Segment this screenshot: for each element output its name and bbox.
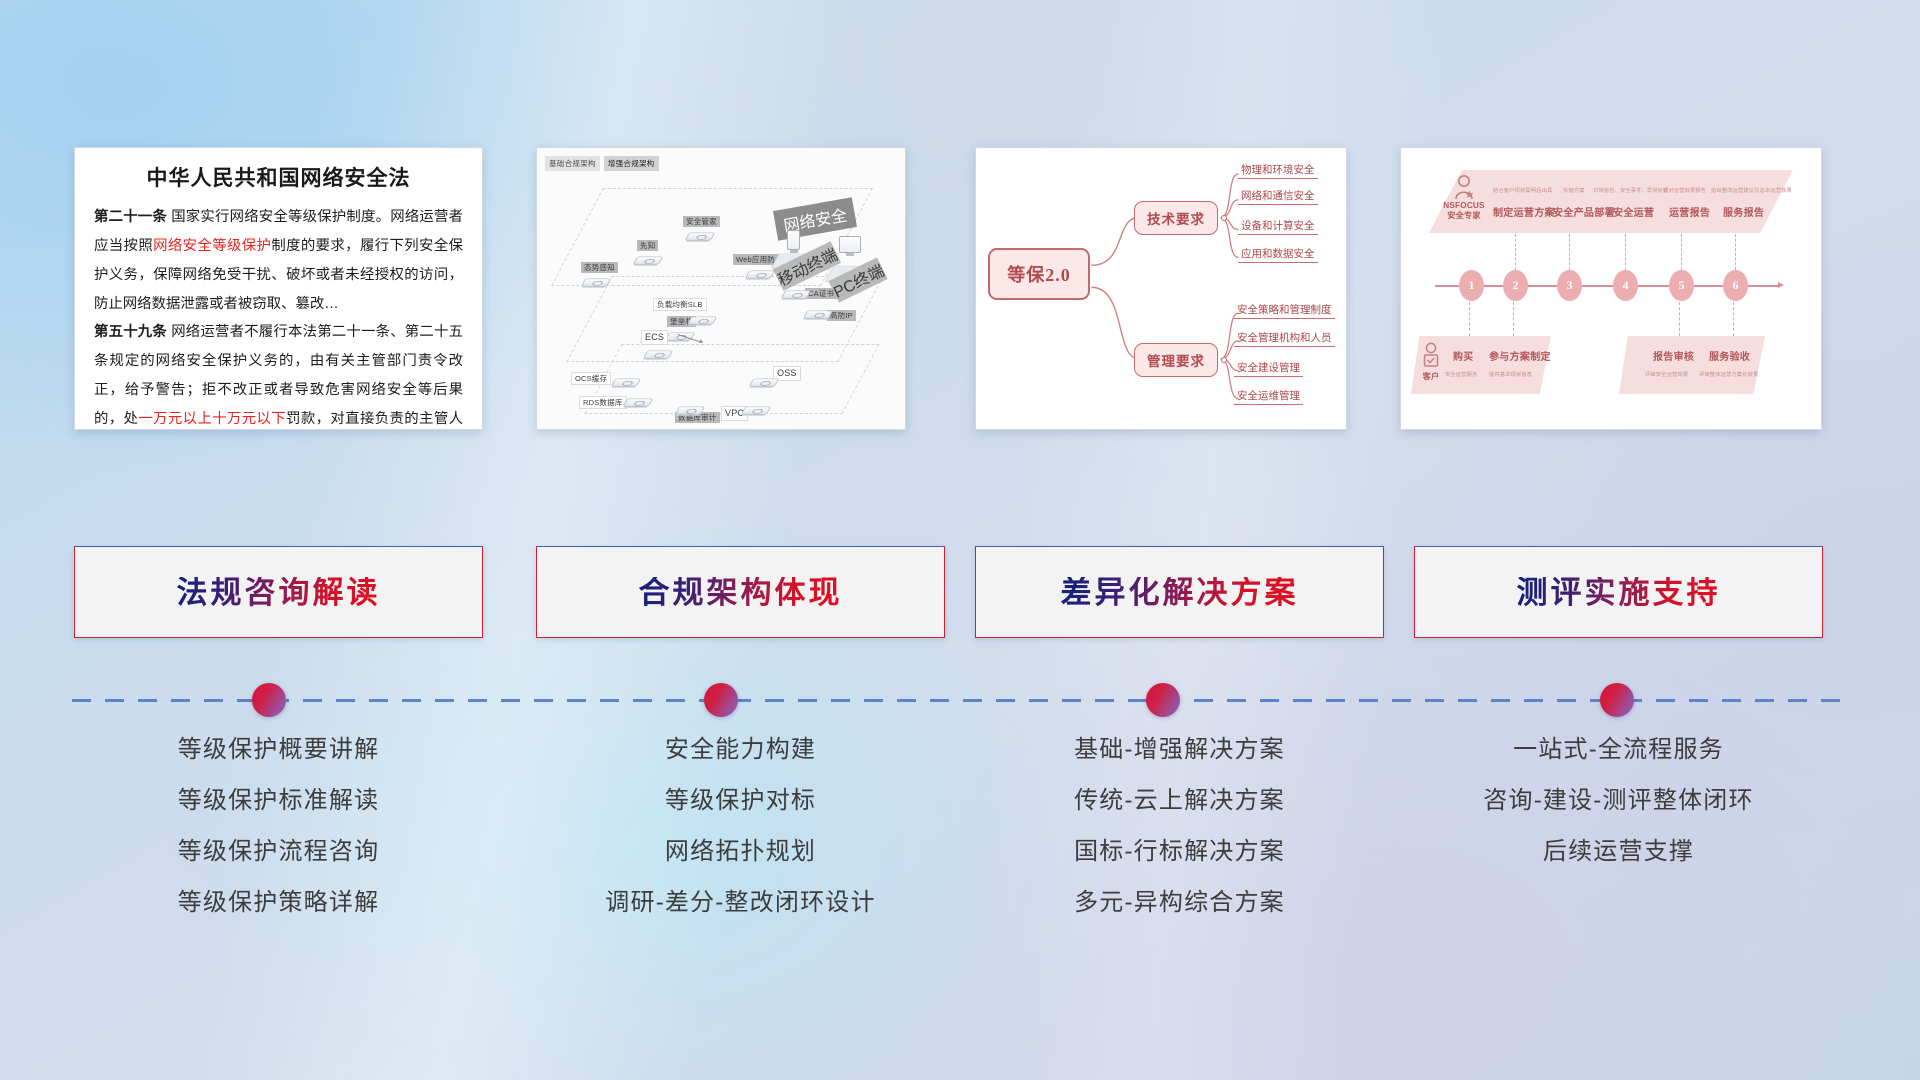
- dashed-timeline: [0, 670, 1920, 730]
- mindmap-leaf: 安全管理机构和人员: [1234, 330, 1335, 347]
- detail-item: 多元-异构综合方案: [975, 891, 1384, 915]
- server-chip-icon: [687, 316, 717, 324]
- server-chip-icon: [745, 270, 775, 278]
- law-paragraph-59: 第五十九条 网络运营者不履行本法第二十一条、第二十五条规定的网络安全保护义务的，…: [94, 318, 463, 430]
- flow-connector: [1735, 234, 1736, 270]
- arch-node-vpc[interactable]: VPC: [743, 404, 769, 417]
- arch-node-rds-database[interactable]: RDS数据库: [625, 396, 651, 409]
- detail-item: 调研-差分-整改闭环设计: [536, 891, 945, 915]
- flow-connector: [1513, 302, 1514, 336]
- detail-item: 基础-增强解决方案: [975, 738, 1384, 762]
- mindmap-leaf: 物理和环境安全: [1238, 162, 1318, 179]
- flow-connector: [1681, 234, 1682, 270]
- illustration-card-row: 中华人民共和国网络安全法 第二十一条 国家实行网络安全等级保护制度。网络运营者应…: [0, 147, 1920, 437]
- arch-node-label: OCS缓存: [571, 372, 611, 385]
- arch-node-label: 安全管家: [683, 216, 720, 227]
- detail-item: 后续运营支撑: [1414, 840, 1823, 864]
- flow-step-2[interactable]: 2: [1503, 270, 1528, 301]
- arch-node-oss[interactable]: OSS: [751, 376, 777, 389]
- customer-band-right: [1619, 336, 1765, 394]
- server-chip-icon: [581, 278, 611, 286]
- customer-step-title: 参与方案制定: [1489, 348, 1551, 363]
- arch-node-label: 态势感知: [581, 262, 618, 273]
- arch-node-ocs-cache[interactable]: OCS缓存: [613, 376, 639, 389]
- arch-node-ecs[interactable]: ECS: [645, 348, 671, 361]
- mindmap-collapse-dot[interactable]: [1221, 357, 1227, 363]
- section-title-box-4[interactable]: 测评实施支持: [1414, 546, 1823, 638]
- detail-column-2: 安全能力构建 等级保护对标 网络拓扑规划 调研-差分-整改闭环设计: [536, 738, 945, 942]
- section-title-text: 测评实施支持: [1517, 577, 1721, 608]
- timeline-marker-3[interactable]: [1146, 683, 1180, 717]
- law-seg-highlight: 网络安全等级保护: [153, 238, 271, 254]
- detail-item: 等级保护概要讲解: [74, 738, 483, 762]
- law-article-label-21: 第二十一条: [94, 209, 167, 225]
- server-chip-icon: [611, 378, 641, 386]
- customer-step-sub: 评审安全运营效果: [1645, 370, 1688, 378]
- flow-step-4[interactable]: 4: [1613, 270, 1638, 301]
- arch-node-bastion-host[interactable]: 堡垒机: [667, 330, 693, 343]
- section-title-box-2[interactable]: 合规架构体现: [536, 546, 945, 638]
- timeline-marker-1[interactable]: [252, 683, 286, 717]
- customer-step-sub: 提供基本现状信息: [1489, 370, 1532, 378]
- server-chip-icon: [741, 406, 771, 414]
- flow-step-sub: 针对运营效果报告: [1663, 186, 1706, 194]
- mindmap-leaf: 网络和通信安全: [1238, 188, 1318, 205]
- detail-item: 等级保护策略详解: [74, 891, 483, 915]
- flow-step-6[interactable]: 6: [1723, 270, 1748, 301]
- tab-basic-architecture[interactable]: 基础合规架构: [545, 156, 600, 171]
- flow-connector: [1679, 302, 1680, 336]
- customer-label: 客户: [1419, 372, 1443, 382]
- flow-step-title: 安全产品部署: [1553, 204, 1615, 219]
- server-chip-icon: [633, 256, 663, 264]
- mindmap-root-node[interactable]: 等保2.0: [988, 248, 1090, 300]
- customer-step-title: 服务验收: [1709, 348, 1750, 363]
- section-title-box-1[interactable]: 法规咨询解读: [74, 546, 483, 638]
- flow-step-title: 服务报告: [1723, 204, 1764, 219]
- flow-step-title: 运营报告: [1669, 204, 1710, 219]
- arch-node-xianzhi[interactable]: 先知: [635, 254, 661, 267]
- section-title-text: 法规咨询解读: [177, 577, 381, 608]
- server-chip-icon: [643, 350, 673, 358]
- arch-node-ca-certificate[interactable]: CA证书: [783, 288, 809, 301]
- brand-subtext: 安全专家: [1447, 211, 1481, 220]
- mindmap-leaf: 安全建设管理: [1234, 360, 1303, 377]
- section-title-row: 法规咨询解读 合规架构体现 差异化解决方案 测评实施支持: [0, 546, 1920, 642]
- detail-item: 传统-云上解决方案: [975, 789, 1384, 813]
- detail-item: 等级保护流程咨询: [74, 840, 483, 864]
- timeline-marker-2[interactable]: [704, 683, 738, 717]
- law-article-label-59: 第五十九条: [94, 324, 167, 340]
- architecture-tab-group[interactable]: 基础合规架构 增强合规架构: [545, 156, 659, 171]
- timeline-dashed-rail: [72, 699, 1848, 702]
- customer-step-sub: 评审整体运营方案化效果: [1699, 370, 1758, 378]
- flow-connector: [1733, 302, 1734, 336]
- law-card-title: 中华人民共和国网络安全法: [94, 166, 463, 191]
- flow-step-sub: 结合客户现状需明后出具: [1493, 186, 1552, 194]
- brand-text: NSFOCUS: [1443, 201, 1484, 210]
- mindmap-leaf: 应用和数据安全: [1238, 246, 1318, 263]
- arch-node-waf[interactable]: Web应用防火墙: [747, 268, 773, 281]
- detail-item: 一站式-全流程服务: [1414, 738, 1823, 762]
- timeline-marker-4[interactable]: [1600, 683, 1634, 717]
- arch-node-situation-awareness[interactable]: 态势感知: [583, 276, 609, 289]
- law-card-body: 第二十一条 国家实行网络安全等级保护制度。网络运营者应当按照网络安全等级保护制度…: [94, 203, 463, 430]
- server-chip-icon: [781, 290, 811, 298]
- mindmap-leaf: 设备和计算安全: [1238, 218, 1318, 235]
- flow-step-sub: 日常巡检、安全事件、异常处理: [1593, 186, 1669, 194]
- expert-avatar-icon: [1453, 174, 1475, 200]
- provider-brand-name: NSFOCUS 安全专家: [1437, 201, 1491, 222]
- section-title-box-3[interactable]: 差异化解决方案: [975, 546, 1384, 638]
- law-paragraph-21: 第二十一条 国家实行网络安全等级保护制度。网络运营者应当按照网络安全等级保护制度…: [94, 203, 463, 318]
- arch-node-label: RDS数据库: [579, 396, 627, 409]
- section-detail-columns: 等级保护概要讲解 等级保护标准解读 等级保护流程咨询 等级保护策略详解 安全能力…: [0, 738, 1920, 948]
- mindmap-collapse-dot[interactable]: [1221, 215, 1227, 221]
- card-dengbao-mindmap[interactable]: 等保2.0 技术要求 物理和环境安全 网络和通信安全 设备和计算安全 应用和数据…: [975, 147, 1347, 430]
- flow-step-5[interactable]: 5: [1669, 270, 1694, 301]
- arch-node-db-audit[interactable]: 数据库审计: [677, 404, 703, 417]
- server-chip-icon: [675, 406, 705, 414]
- detail-item: 等级保护标准解读: [74, 789, 483, 813]
- tab-enhanced-architecture[interactable]: 增强合规架构: [604, 156, 659, 171]
- section-title-text: 差异化解决方案: [1061, 577, 1299, 608]
- detail-item: 咨询-建设-测评整体闭环: [1414, 789, 1823, 813]
- detail-item: 网络拓扑规划: [536, 840, 945, 864]
- card-cloud-architecture[interactable]: 基础合规架构 增强合规架构 态势感知 先知 安全管家 网络安全 堡: [536, 147, 906, 430]
- arch-node-label: 负载均衡SLB: [653, 298, 707, 311]
- flow-step-3[interactable]: 3: [1557, 270, 1582, 301]
- mindmap-leaf: 安全策略和管理制度: [1234, 302, 1335, 319]
- customer-step-sub: 安全运营服务: [1445, 370, 1477, 378]
- mindmap-branch-management[interactable]: 管理要求: [1134, 343, 1218, 377]
- flow-step-title: 安全运营: [1613, 204, 1654, 219]
- arch-node-security-butler[interactable]: 安全管家: [687, 230, 713, 243]
- server-chip-icon: [685, 232, 715, 240]
- customer-avatar-icon: [1421, 342, 1441, 370]
- mindmap-leaf: 安全运维管理: [1234, 388, 1303, 405]
- arch-node-anti-ddos-ip[interactable]: 高防IP: [805, 308, 831, 321]
- mobile-device-icon: [787, 230, 800, 250]
- pc-monitor-icon: [839, 236, 861, 253]
- detail-item: 国标-行标解决方案: [975, 840, 1384, 864]
- flow-step-title: 制定运营方案: [1493, 204, 1555, 219]
- flow-connector: [1515, 234, 1516, 270]
- flow-step-sub: 实施方案: [1563, 186, 1585, 194]
- detail-item: 安全能力构建: [536, 738, 945, 762]
- flow-step-1[interactable]: 1: [1459, 270, 1484, 301]
- detail-column-3: 基础-增强解决方案 传统-云上解决方案 国标-行标解决方案 多元-异构综合方案: [975, 738, 1384, 942]
- server-chip-icon: [623, 398, 653, 406]
- flow-connector: [1469, 302, 1470, 336]
- flow-step-sub: 给出整改运营建议及总本运营效果: [1711, 186, 1792, 194]
- customer-step-title: 报告审核: [1653, 348, 1694, 363]
- arch-node-label: ECS: [641, 330, 668, 345]
- flow-connector: [1625, 234, 1626, 270]
- card-nsfocus-service-flow[interactable]: NSFOCUS 安全专家 客户 1 2 3 4 5 6: [1400, 147, 1822, 430]
- section-title-text: 合规架构体现: [639, 577, 843, 608]
- detail-column-1: 等级保护概要讲解 等级保护标准解读 等级保护流程咨询 等级保护策略详解: [74, 738, 483, 942]
- server-chip-icon: [803, 310, 833, 318]
- server-chip-icon: [749, 378, 779, 386]
- detail-item: 等级保护对标: [536, 789, 945, 813]
- detail-column-4: 一站式-全流程服务 咨询-建设-测评整体闭环 后续运营支撑: [1414, 738, 1823, 891]
- card-cybersecurity-law[interactable]: 中华人民共和国网络安全法 第二十一条 国家实行网络安全等级保护制度。网络运营者应…: [74, 147, 483, 430]
- flow-connector: [1569, 234, 1570, 270]
- mindmap-branch-technical[interactable]: 技术要求: [1134, 201, 1218, 235]
- arch-node-slb[interactable]: 负载均衡SLB: [689, 314, 715, 327]
- arch-node-label: 先知: [637, 240, 658, 251]
- customer-step-title: 购买: [1453, 348, 1474, 363]
- law-seg-highlight: 一万元以上十万元以下: [138, 411, 286, 427]
